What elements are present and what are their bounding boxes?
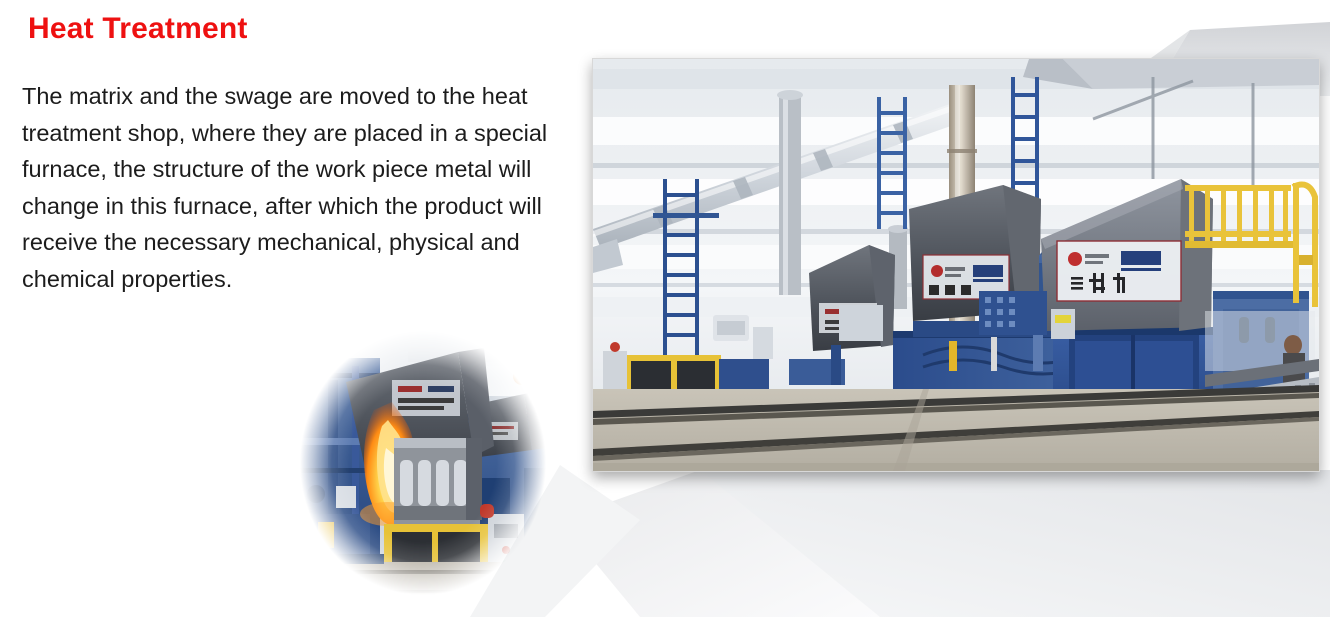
heat-treatment-shop-photo	[592, 58, 1320, 472]
decor-polygon-bottom-right	[640, 470, 1330, 617]
decor-polygon-center	[560, 470, 880, 617]
slide-canvas: Heat Treatment The matrix and the swage …	[0, 0, 1330, 617]
circular-furnace-photo	[288, 318, 558, 608]
page-title: Heat Treatment	[28, 12, 248, 46]
body-paragraph: The matrix and the swage are moved to th…	[22, 78, 562, 297]
